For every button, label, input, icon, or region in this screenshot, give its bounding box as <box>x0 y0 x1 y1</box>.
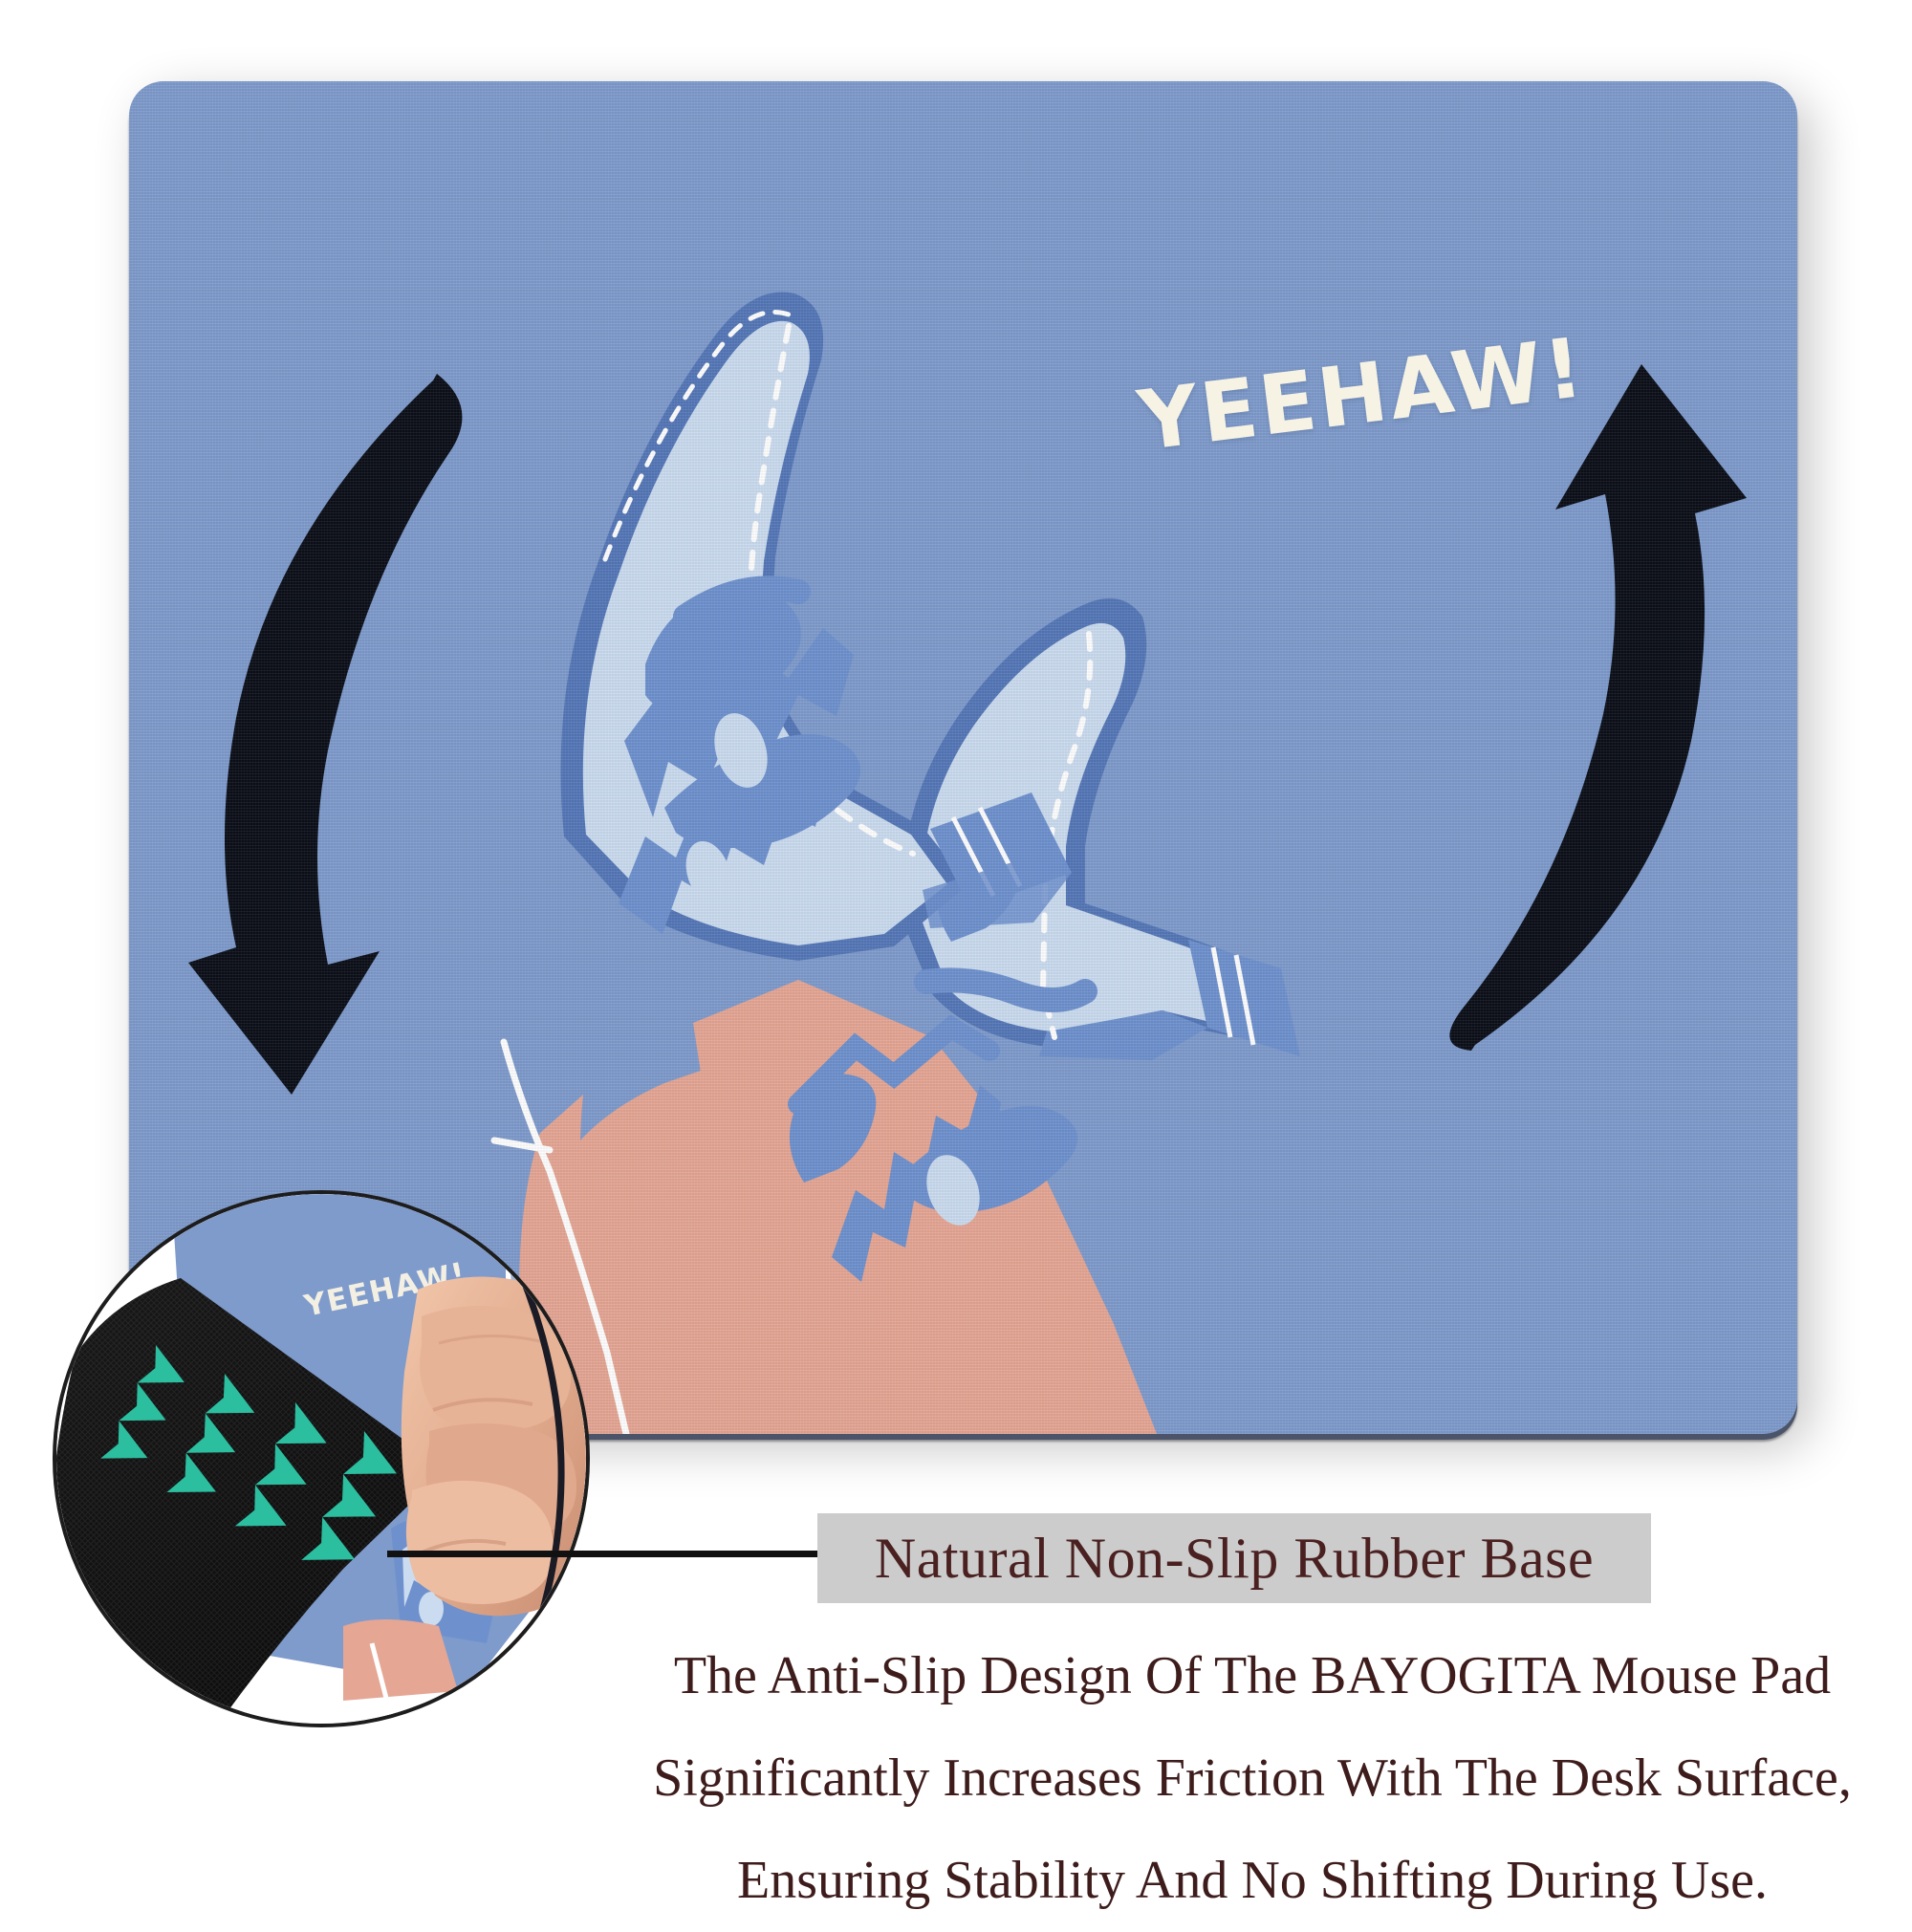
rotation-arrow-right <box>1449 364 1747 1051</box>
callout-body-line-2: Significantly Increases Friction With Th… <box>593 1727 1912 1830</box>
inset-photo: YEEHAW! <box>56 1194 586 1724</box>
callout-body-line-1: The Anti-Slip Design Of The BAYOGITA Mou… <box>593 1625 1912 1727</box>
callout-body-line-3: Ensuring Stability And No Shifting Durin… <box>593 1830 1912 1932</box>
product-marketing-image: YEEHAW! <box>0 0 1912 1912</box>
callout-leader-line <box>387 1551 817 1557</box>
non-slip-base-inset[interactable]: YEEHAW! <box>53 1190 590 1727</box>
callout-body: The Anti-Slip Design Of The BAYOGITA Mou… <box>593 1625 1912 1932</box>
cowboy-boot-upper <box>561 281 1072 961</box>
callout-headline: Natural Non-Slip Rubber Base <box>817 1513 1651 1603</box>
rotation-arrow-left <box>188 374 462 1095</box>
